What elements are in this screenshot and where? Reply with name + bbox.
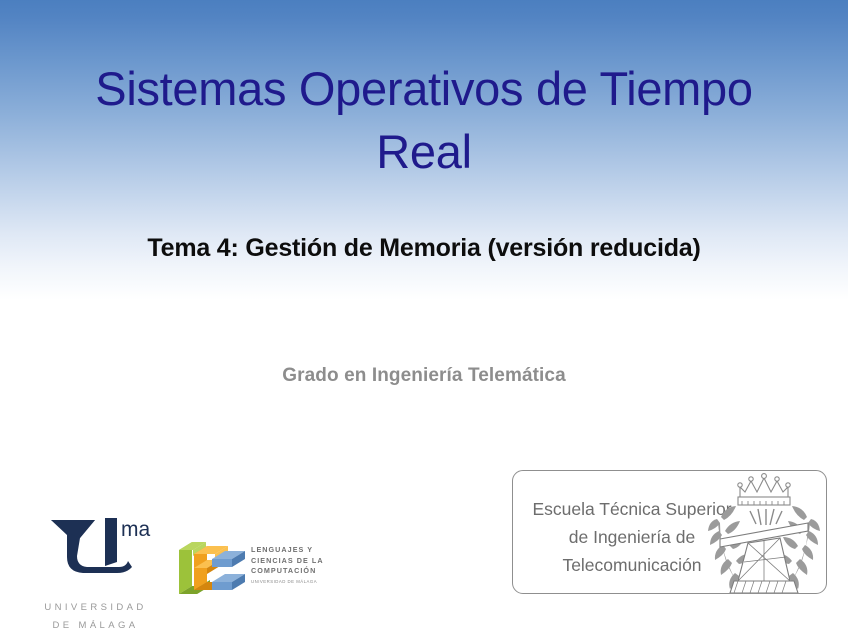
etsit-logo: Escuela Técnica Superior de Ingeniería d…: [512, 470, 827, 594]
lcc-logo-text: LENGUAJES Y CIENCIAS DE LA COMPUTACIÓN U…: [251, 545, 326, 584]
lcc-logo-line-2: CIENCIAS DE LA: [251, 556, 326, 567]
lcc-logo-line-3: COMPUTACIÓN: [251, 566, 326, 577]
slide-title-line-1: Sistemas Operativos de Tiempo: [60, 57, 788, 120]
slide-topic-heading: Tema 4: Gestión de Memoria (versión redu…: [40, 234, 808, 263]
lcc-logo-blocks-icon: [176, 528, 248, 602]
svg-text:ma: ma: [121, 518, 150, 541]
uma-logo-mark-icon: ma: [33, 510, 158, 582]
lcc-logo-subtitle: UNIVERSIDAD DE MÁLAGA: [251, 579, 326, 584]
uma-logo-line-2: DE MÁLAGA: [33, 620, 158, 631]
etsit-crest-icon: [704, 470, 824, 594]
slide-title: Sistemas Operativos de Tiempo Real: [60, 57, 788, 183]
slide-title-line-2: Real: [60, 120, 788, 183]
slide-degree-label: Grado en Ingeniería Telemática: [40, 365, 808, 387]
uma-logo-line-1: UNIVERSIDAD: [33, 602, 158, 613]
uma-logo: ma UNIVERSIDAD DE MÁLAGA: [33, 510, 158, 636]
presentation-slide: Sistemas Operativos de Tiempo Real Tema …: [0, 0, 848, 636]
lcc-logo: LENGUAJES Y CIENCIAS DE LA COMPUTACIÓN U…: [176, 528, 326, 606]
lcc-logo-line-1: LENGUAJES Y: [251, 545, 326, 556]
